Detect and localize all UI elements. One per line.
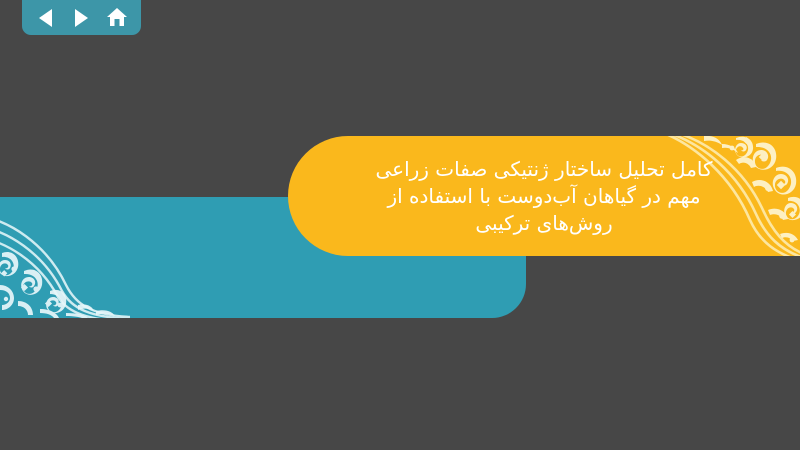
right-triangle-icon: [72, 8, 90, 28]
teal-arabesque-ornament: [0, 197, 130, 318]
orange-title-banner: [288, 136, 800, 256]
home-button[interactable]: [102, 5, 132, 31]
previous-slide-button[interactable]: [31, 5, 61, 31]
home-icon: [106, 7, 128, 28]
navigation-bar: [22, 0, 141, 35]
next-slide-button[interactable]: [66, 5, 96, 31]
left-triangle-icon: [37, 8, 55, 28]
presentation-slide: کامل تحلیل ساختار ژنتیکی صفات زراعی مهم …: [0, 0, 800, 450]
orange-arabesque-ornament: [640, 136, 800, 256]
